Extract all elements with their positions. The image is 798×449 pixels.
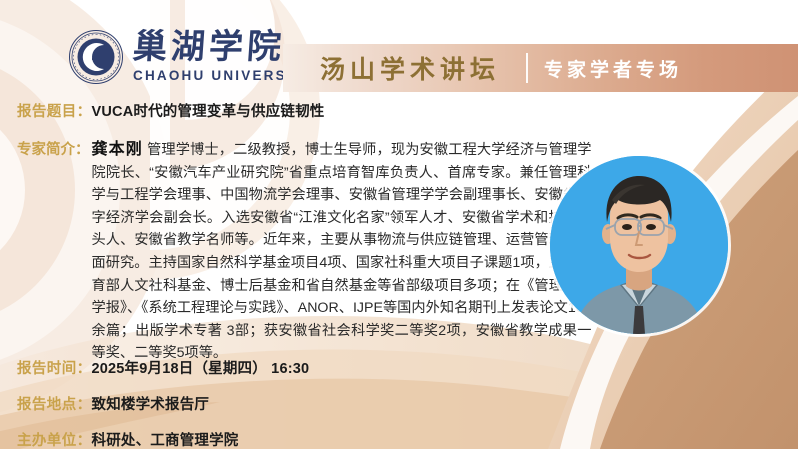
report-organizer-label: 主办单位： [17, 429, 92, 449]
portrait-illustration [550, 156, 728, 334]
report-organizer-value: 科研处、工商管理学院 [92, 429, 239, 449]
speaker-bio-text: 管理学博士，二级教授，博士生导师，现为安徽工程大学经济与管理学院院长、“安徽汽车… [92, 142, 592, 361]
report-title-label: 报告题目： [17, 100, 92, 121]
event-banner: 汤山学术讲坛 专家学者专场 [283, 44, 798, 92]
report-organizer-row: 主办单位： 科研处、工商管理学院 [17, 429, 239, 449]
report-place-label: 报告地点： [17, 393, 92, 414]
poster-canvas: 巢湖学院 CHAOHU UNIVERSITY 汤山学术讲坛 专家学者专场 报告题… [0, 0, 798, 449]
report-time-value: 2025年9月18日（星期四） 16:30 [92, 357, 310, 378]
banner-main-title: 汤山学术讲坛 [320, 50, 500, 86]
report-place-row: 报告地点： 致知楼学术报告厅 [17, 393, 209, 414]
speaker-portrait [550, 156, 728, 334]
report-place-value: 致知楼学术报告厅 [92, 393, 210, 414]
university-seal-icon [68, 29, 124, 85]
report-time-row: 报告时间： 2025年9月18日（星期四） 16:30 [17, 357, 309, 378]
speaker-bio-body: 龚本刚 管理学博士，二级教授，博士生导师，现为安徽工程大学经济与管理学院院长、“… [92, 139, 592, 365]
speaker-name: 龚本刚 [92, 141, 143, 158]
report-title-value: VUCA时代的管理变革与供应链韧性 [92, 100, 325, 121]
banner-subtitle: 专家学者专场 [544, 55, 682, 82]
speaker-bio-label: 专家简介： [17, 138, 90, 159]
report-time-label: 报告时间： [17, 357, 92, 378]
report-title-row: 报告题目： VUCA时代的管理变革与供应链韧性 [17, 100, 325, 121]
poster-header: 巢湖学院 CHAOHU UNIVERSITY 汤山学术讲坛 专家学者专场 [0, 0, 798, 96]
speaker-bio-row: 专家简介： 龚本刚 管理学博士，二级教授，博士生导师，现为安徽工程大学经济与管理… [17, 138, 592, 365]
university-logo: 巢湖学院 CHAOHU UNIVERSITY [68, 29, 314, 85]
banner-divider [526, 53, 528, 83]
